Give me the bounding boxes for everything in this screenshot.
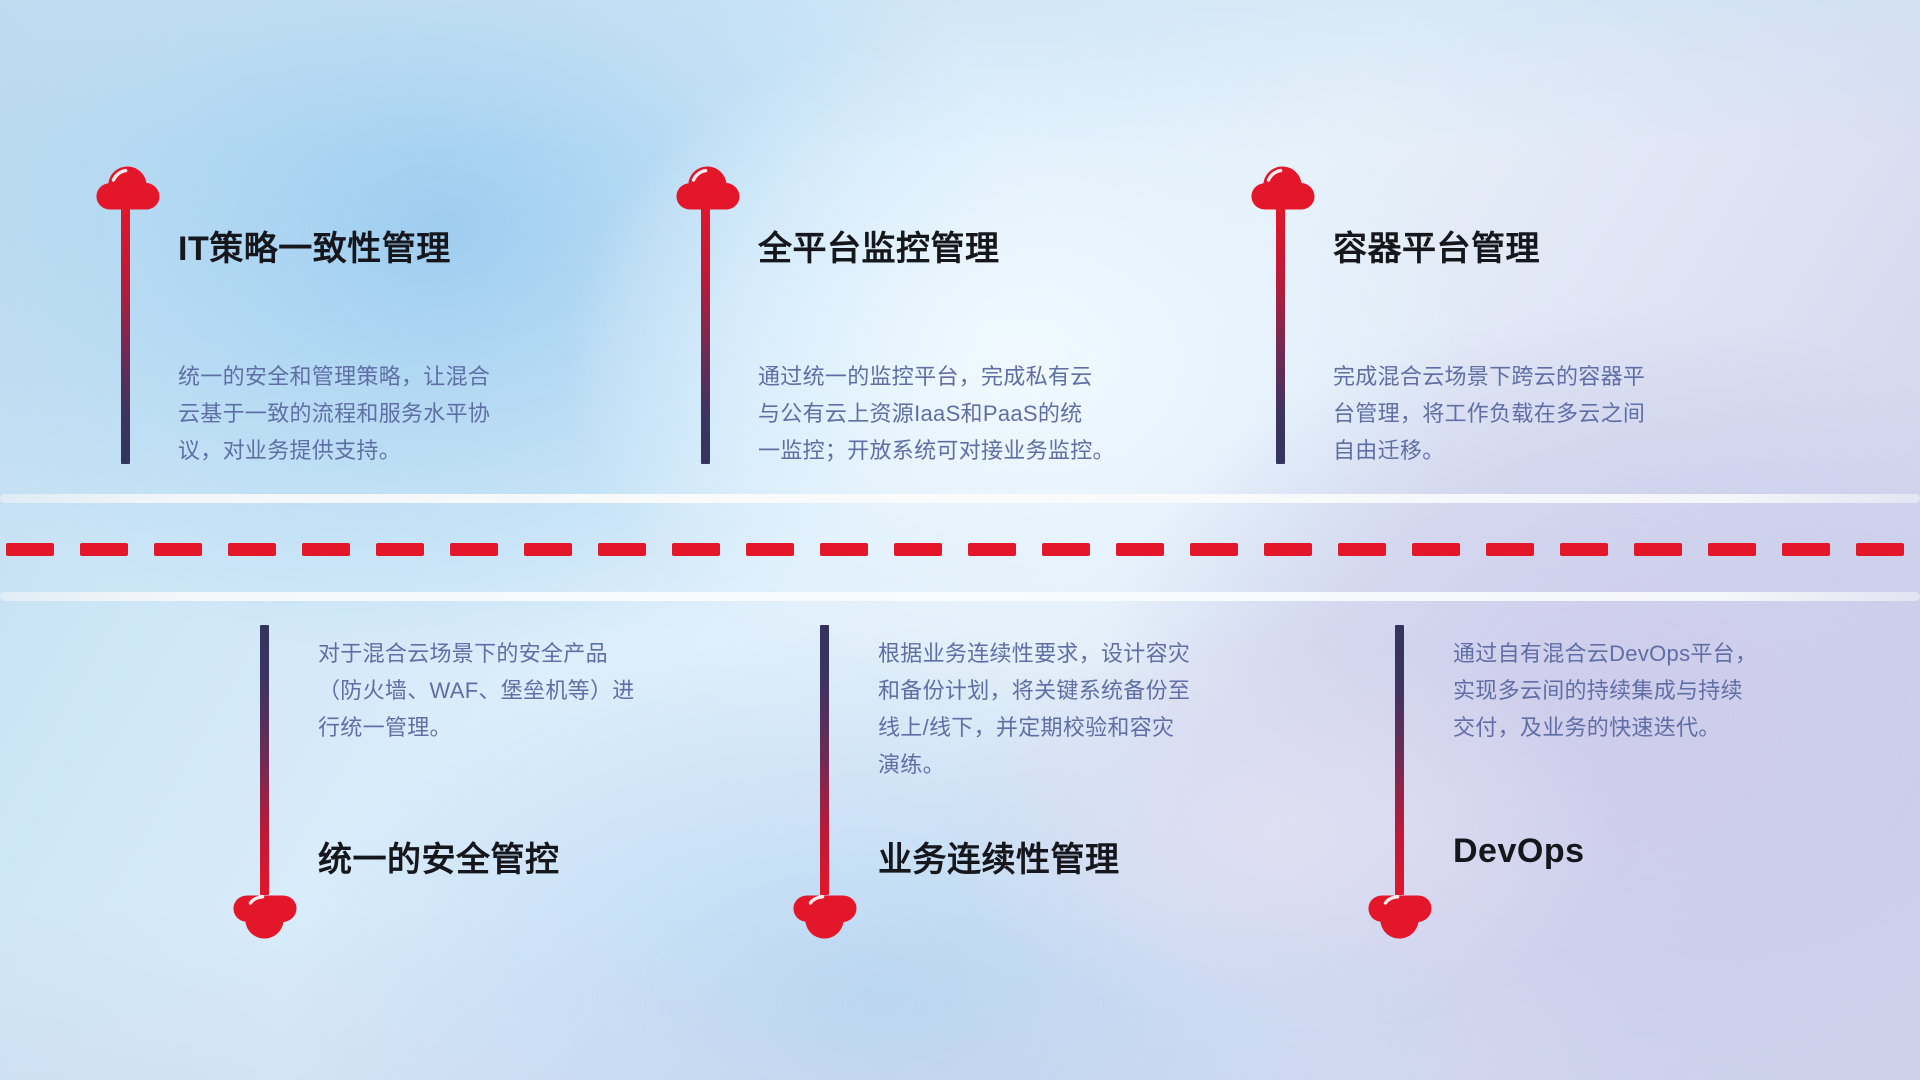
divider-dash: [1264, 543, 1312, 556]
divider-dash: [1412, 543, 1460, 556]
top-body-1: 统一的安全和管理策略，让混合 云基于一致的流程和服务水平协 议，对业务提供支持。: [178, 358, 618, 469]
divider-dash: [820, 543, 868, 556]
divider-dash: [376, 543, 424, 556]
infographic-canvas: IT策略一致性管理 统一的安全和管理策略，让混合 云基于一致的流程和服务水平协 …: [0, 0, 1920, 1080]
cloud-pin-2: [676, 166, 740, 210]
bottom-card-3: 通过自有混合云DevOps平台， 实现多云间的持续集成与持续 交付，及业务的快速…: [1215, 600, 1915, 1000]
top-title-3: 容器平台管理: [1333, 221, 1540, 270]
top-card-1: IT策略一致性管理 统一的安全和管理策略，让混合 云基于一致的流程和服务水平协 …: [0, 0, 640, 500]
cloud-icon: [1368, 895, 1432, 939]
divider-dash: [1782, 543, 1830, 556]
divider-dash: [6, 543, 54, 556]
connector-line-4: [260, 625, 269, 895]
top-body-3: 完成混合云场景下跨云的容器平 台管理，将工作负载在多云之间 自由迁移。: [1333, 358, 1773, 469]
bottom-title-1: 统一的安全管控: [318, 832, 560, 881]
cloud-icon: [676, 166, 740, 210]
cloud-icon: [233, 895, 297, 939]
connector-line-3: [1276, 206, 1285, 464]
connector-line-6: [1395, 625, 1404, 895]
divider-dashed-line: [0, 542, 1920, 556]
cloud-pin-1: [96, 166, 160, 210]
divider-dash: [1856, 543, 1904, 556]
top-title-2: 全平台监控管理: [758, 221, 1000, 270]
divider-dash: [968, 543, 1016, 556]
cloud-icon: [1251, 166, 1315, 210]
divider-dash: [154, 543, 202, 556]
divider-dash: [746, 543, 794, 556]
top-card-2: 全平台监控管理 通过统一的监控平台，完成私有云 与公有云上资源IaaS和PaaS…: [580, 0, 1220, 500]
divider-dash: [1634, 543, 1682, 556]
cloud-pin-3: [1251, 166, 1315, 210]
bottom-title-2: 业务连续性管理: [878, 832, 1120, 881]
cloud-pin-6: [1368, 895, 1432, 939]
bottom-body-3: 通过自有混合云DevOps平台， 实现多云间的持续集成与持续 交付，及业务的快速…: [1453, 635, 1883, 746]
divider-dash: [80, 543, 128, 556]
bottom-title-3: DevOps: [1453, 832, 1585, 871]
divider-dash: [1708, 543, 1756, 556]
cloud-icon: [96, 166, 160, 210]
cloud-pin-5: [793, 895, 857, 939]
divider-dash: [1116, 543, 1164, 556]
cloud-pin-4: [233, 895, 297, 939]
bottom-card-2: 根据业务连续性要求，设计容灾 和备份计划，将关键系统备份至 线上/线下，并定期校…: [640, 600, 1300, 1000]
divider-dash: [672, 543, 720, 556]
divider-dash: [228, 543, 276, 556]
cloud-icon: [793, 895, 857, 939]
connector-line-1: [121, 206, 130, 464]
divider-dash: [1338, 543, 1386, 556]
divider-dash: [598, 543, 646, 556]
divider-band-top: [0, 494, 1920, 503]
divider-dash: [1486, 543, 1534, 556]
divider-dash: [1560, 543, 1608, 556]
divider-dash: [450, 543, 498, 556]
divider-dash: [1042, 543, 1090, 556]
top-title-1: IT策略一致性管理: [178, 221, 451, 270]
divider-dash: [894, 543, 942, 556]
connector-line-2: [701, 206, 710, 464]
divider-dash: [302, 543, 350, 556]
connector-line-5: [820, 625, 829, 895]
top-card-3: 容器平台管理 完成混合云场景下跨云的容器平 台管理，将工作负载在多云之间 自由迁…: [1155, 0, 1855, 500]
divider-dash: [1190, 543, 1238, 556]
divider-dash: [524, 543, 572, 556]
